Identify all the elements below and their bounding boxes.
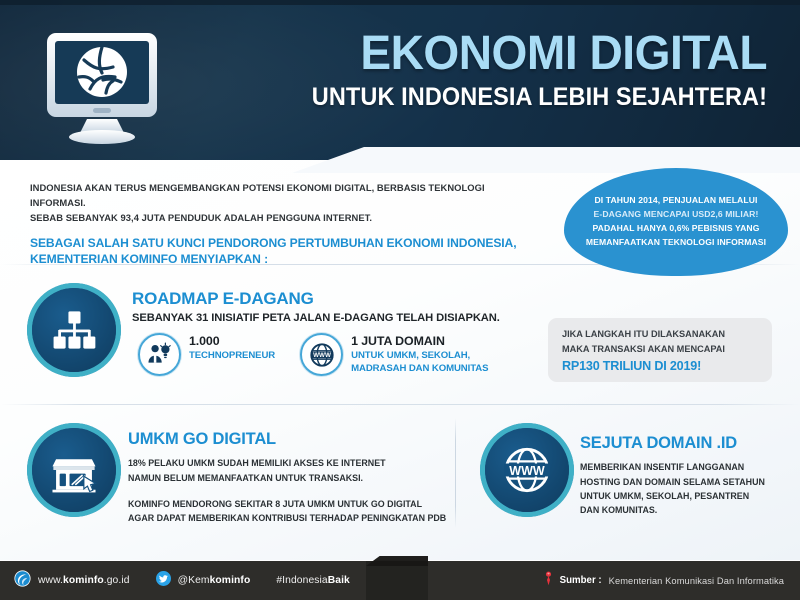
callout-box: JIKA LANGKAH ITU DILAKSANAKAN MAKA TRANS… (548, 318, 772, 382)
stat-technopreneur-number: 1.000 (189, 334, 275, 349)
stat-domain-number: 1 JUTA DOMAIN (351, 334, 488, 349)
technopreneur-icon (138, 333, 181, 376)
shop-cursor-icon (32, 428, 116, 512)
stat-domain-body: 1 JUTA DOMAIN UNTUK UMKM, SEKOLAH, MADRA… (351, 333, 488, 375)
footer-source-value: Kementerian Komunikasi Dan Informatika (609, 576, 784, 586)
roadmap-text-block: ROADMAP E-DAGANG SEBANYAK 31 INISIATIF P… (132, 290, 532, 324)
stat-technopreneur-label: TECHNOPRENEUR (189, 350, 275, 363)
domain-para-line4: DAN KOMUNITAS. (580, 503, 795, 517)
stat-domain: WWW 1 JUTA DOMAIN UNTUK UMKM, SEKOLAH, M… (300, 333, 488, 376)
domain-para-line3: UNTUK UMKM, SEKOLAH, PESANTREN (580, 489, 795, 503)
www-globe-icon: WWW (300, 333, 343, 376)
stat-technopreneur: 1.000 TECHNOPRENEUR (138, 333, 275, 376)
umkm-para1-line1: 18% PELAKU UMKM SUDAH MEMILIKI AKSES KE … (128, 456, 448, 470)
intro-text-block: INDONESIA AKAN TERUS MENGEMBANGKAN POTEN… (30, 180, 530, 267)
callout-ellipse-line-2: E-DAGANG MENCAPAI USD2,6 MILIAR! (572, 208, 780, 222)
footer-hashtag[interactable]: #IndonesiaBaik (276, 575, 350, 586)
intro-highlight-line-1: SEBAGAI SALAH SATU KUNCI PENDORONG PERTU… (30, 235, 530, 251)
header-text-block: EKONOMI DIGITAL UNTUK INDONESIA LEBIH SE… (222, 30, 767, 110)
footer-hashtag-text: #IndonesiaBaik (276, 575, 350, 586)
header-top-rule (0, 0, 800, 5)
footer-website[interactable]: www.kominfo.go.id (14, 570, 130, 592)
svg-text:WWW: WWW (313, 351, 331, 358)
domain-para-line2: HOSTING DAN DOMAIN SELAMA SETAHUN (580, 475, 795, 489)
pin-icon (544, 571, 553, 591)
callout-ellipse-line-4: MEMANFAATKAN TEKNOLOGI INFORMASI (572, 236, 780, 250)
umkm-para2-line1: KOMINFO MENDORONG SEKITAR 8 JUTA UMKM UN… (128, 497, 448, 511)
page-subtitle: UNTUK INDONESIA LEBIH SEJAHTERA! (255, 84, 767, 110)
header-banner: EKONOMI DIGITAL UNTUK INDONESIA LEBIH SE… (0, 0, 800, 168)
callout-box-line-2: MAKA TRANSAKSI AKAN MENCAPAI (562, 342, 758, 356)
footer-left-group: www.kominfo.go.id @Kemkominfo #Indonesia… (14, 561, 376, 600)
umkm-para1-line2: NAMUN BELUM MEMANFAATKAN UNTUK TRANSAKSI… (128, 471, 448, 485)
domain-title: SEJUTA DOMAIN .ID (580, 434, 795, 452)
footer-twitter[interactable]: @Kemkominfo (156, 571, 251, 591)
umkm-text-block: UMKM GO DIGITAL 18% PELAKU UMKM SUDAH ME… (128, 430, 448, 526)
page-title: EKONOMI DIGITAL (244, 30, 767, 79)
footer-twitter-text: @Kemkominfo (178, 575, 251, 586)
umkm-para2-line2: AGAR DAPAT MEMBERIKAN KONTRIBUSI TERHADA… (128, 511, 448, 525)
svg-text:WWW: WWW (509, 464, 545, 478)
section-divider-2 (0, 404, 800, 405)
callout-ellipse-line-3: PADAHAL HANYA 0,6% PEBISNIS YANG (572, 222, 780, 236)
kominfo-logo-icon (14, 570, 31, 592)
org-chart-icon (32, 288, 116, 372)
domain-text-block: SEJUTA DOMAIN .ID MEMBERIKAN INSENTIF LA… (580, 434, 795, 518)
stat-domain-label-1: UNTUK UMKM, SEKOLAH, (351, 350, 488, 363)
twitter-icon (156, 571, 171, 591)
footer-source-group: Sumber : Kementerian Komunikasi Dan Info… (544, 561, 784, 600)
domain-para-line1: MEMBERIKAN INSENTIF LANGGANAN (580, 460, 795, 474)
umkm-title: UMKM GO DIGITAL (128, 430, 448, 448)
footer-website-text: www.kominfo.go.id (38, 575, 130, 586)
footer-source-label: Sumber : (560, 575, 602, 586)
roadmap-stats-row: 1.000 TECHNOPRENEUR WWW 1 JUTA DOMAIN UN… (138, 333, 488, 376)
monitor-globe-icon (43, 27, 161, 145)
intro-line-1: INDONESIA AKAN TERUS MENGEMBANGKAN POTEN… (30, 180, 530, 210)
intro-highlight-line-2: KEMENTERIAN KOMINFO MENYIAPKAN : (30, 251, 530, 267)
infographic-page: EKONOMI DIGITAL UNTUK INDONESIA LEBIH SE… (0, 0, 800, 600)
www-globe-icon: WWW (485, 428, 569, 512)
callout-box-line-1: JIKA LANGKAH ITU DILAKSANAKAN (562, 327, 758, 341)
vertical-divider (455, 418, 456, 528)
intro-line-2: SEBAB SEBANYAK 93,4 JUTA PENDUDUK ADALAH… (30, 210, 530, 225)
roadmap-subtitle: SEBANYAK 31 INISIATIF PETA JALAN E-DAGAN… (132, 312, 532, 324)
stat-domain-label-2: MADRASAH DAN KOMUNITAS (351, 363, 488, 376)
stat-technopreneur-body: 1.000 TECHNOPRENEUR (189, 333, 275, 363)
footer-bar: www.kominfo.go.id @Kemkominfo #Indonesia… (0, 561, 800, 600)
callout-box-highlight: RP130 TRILIUN DI 2019! (562, 359, 758, 373)
callout-ellipse-line-1: DI TAHUN 2014, PENJUALAN MELALUI (572, 194, 780, 208)
roadmap-title: ROADMAP E-DAGANG (132, 290, 532, 309)
